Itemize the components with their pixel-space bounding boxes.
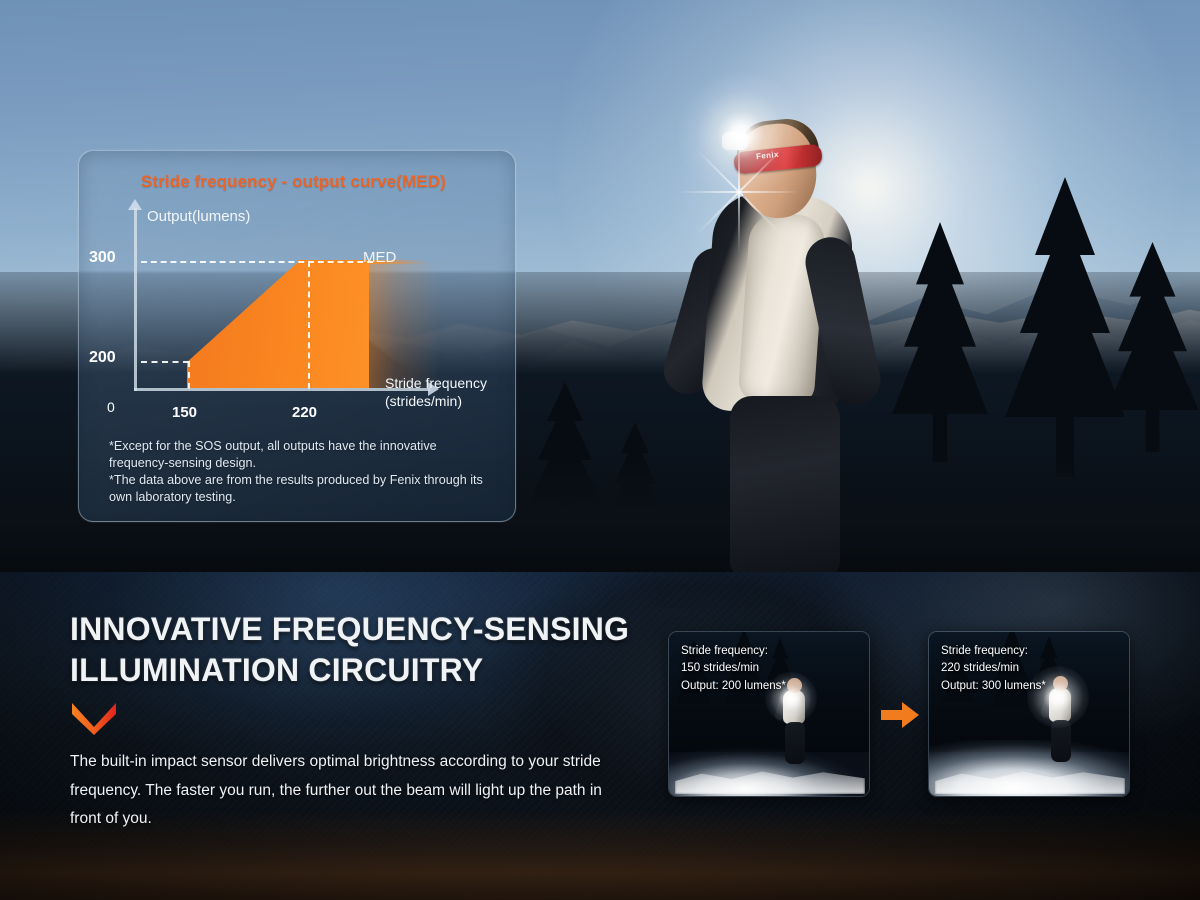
guide-line-200 bbox=[141, 361, 189, 363]
page-root: Fenix Stride frequency - output curve(ME… bbox=[0, 0, 1200, 900]
card-caption-line3: Output: 200 lumens* bbox=[681, 678, 870, 695]
headline-line-1: INNOVATIVE FREQUENCY-SENSING bbox=[70, 609, 670, 650]
x-axis-label-line1: Stride frequency bbox=[385, 375, 487, 393]
x-tick-0: 0 bbox=[107, 399, 115, 415]
card-caption-line2: 220 strides/min bbox=[941, 660, 1130, 677]
card-caption: Stride frequency: 150 strides/min Output… bbox=[681, 643, 870, 695]
x-tick-220: 220 bbox=[292, 404, 317, 421]
guide-line-150 bbox=[188, 361, 190, 389]
guide-line-300 bbox=[141, 261, 373, 263]
card-caption: Stride frequency: 220 strides/min Output… bbox=[941, 643, 1130, 695]
bottom-section: INNOVATIVE FREQUENCY-SENSING ILLUMINATIO… bbox=[0, 572, 1200, 900]
card-caption-line2: 150 strides/min bbox=[681, 660, 870, 677]
y-axis-arrow-icon bbox=[128, 199, 142, 210]
photo-card-150[interactable]: Stride frequency: 150 strides/min Output… bbox=[668, 631, 870, 797]
runner-vest bbox=[737, 212, 826, 407]
card-runner-legs bbox=[785, 722, 805, 764]
headline-line-2: ILLUMINATION CIRCUITRY bbox=[70, 650, 670, 691]
y-axis bbox=[134, 208, 137, 391]
card-caption-line1: Stride frequency: bbox=[681, 643, 870, 660]
x-axis-label-line2: (strides/min) bbox=[385, 393, 487, 411]
y-axis-label: Output(lumens) bbox=[147, 208, 250, 225]
runner-figure: Fenix bbox=[660, 96, 960, 572]
headlamp-flare bbox=[676, 70, 806, 200]
x-axis-label: Stride frequency (strides/min) bbox=[385, 375, 487, 410]
page-title: INNOVATIVE FREQUENCY-SENSING ILLUMINATIO… bbox=[70, 609, 670, 690]
y-tick-300: 300 bbox=[89, 249, 116, 267]
guide-line-220 bbox=[308, 261, 310, 389]
chart-footnotes: *Except for the SOS output, all outputs … bbox=[109, 438, 499, 506]
arrow-right-icon bbox=[880, 700, 920, 730]
footnote-2: *The data above are from the results pro… bbox=[109, 472, 499, 506]
chevron-down-icon bbox=[70, 701, 118, 735]
photo-card-220[interactable]: Stride frequency: 220 strides/min Output… bbox=[928, 631, 1130, 797]
y-tick-200: 200 bbox=[89, 349, 116, 367]
hero-scene: Fenix Stride frequency - output curve(ME… bbox=[0, 0, 1200, 572]
chart-panel: Stride frequency - output curve(MED) Out… bbox=[78, 150, 516, 522]
output-curve-area bbox=[187, 262, 369, 388]
card-caption-line1: Stride frequency: bbox=[941, 643, 1130, 660]
card-caption-line3: Output: 300 lumens* bbox=[941, 678, 1130, 695]
series-label-med: MED bbox=[363, 249, 396, 266]
body-paragraph: The built-in impact sensor delivers opti… bbox=[70, 748, 630, 834]
runner-legs bbox=[730, 396, 840, 572]
x-tick-150: 150 bbox=[172, 404, 197, 421]
footnote-1: *Except for the SOS output, all outputs … bbox=[109, 438, 499, 472]
